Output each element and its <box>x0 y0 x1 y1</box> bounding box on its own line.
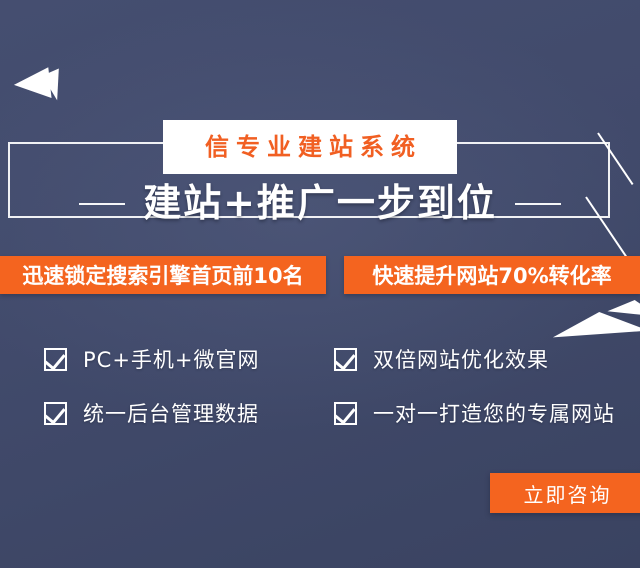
highlight-bar-ranking: 迅速锁定搜索引擎首页前10名 <box>0 256 326 294</box>
highlight-bar-conversion: 快速提升网站70%转化率 <box>344 256 640 294</box>
checkbox-checked-icon <box>44 348 67 371</box>
feature-label: 双倍网站优化效果 <box>373 344 549 374</box>
paper-plane-wing-icon <box>41 68 59 101</box>
feature-label: 一对一打造您的专属网站 <box>373 398 615 428</box>
feature-label: 统一后台管理数据 <box>83 398 259 428</box>
badge-label: 信专业建站系统 <box>198 135 422 159</box>
consult-now-button[interactable]: 立即咨询 <box>490 473 640 513</box>
feature-list: PC+手机+微官网 双倍网站优化效果 统一后台管理数据 一对一打造您的专属网站 <box>44 332 624 440</box>
page-title: 建站+推广一步到位 <box>125 183 515 225</box>
feature-item-multi-platform: PC+手机+微官网 <box>44 344 334 374</box>
badge: 信专业建站系统 <box>163 120 457 174</box>
feature-item-one-on-one: 一对一打造您的专属网站 <box>334 398 624 428</box>
headline-rule-left <box>79 203 125 205</box>
promo-banner: 信专业建站系统 建站+推广一步到位 迅速锁定搜索引擎首页前10名 快速提升网站7… <box>0 0 640 568</box>
feature-label: PC+手机+微官网 <box>83 344 260 374</box>
checkbox-checked-icon <box>44 402 67 425</box>
feature-item-double-seo: 双倍网站优化效果 <box>334 344 624 374</box>
feature-item-unified-backend: 统一后台管理数据 <box>44 398 334 428</box>
headline-row: 建站+推广一步到位 <box>0 183 640 225</box>
checkbox-checked-icon <box>334 402 357 425</box>
headline-rule-right <box>515 203 561 205</box>
checkbox-checked-icon <box>334 348 357 371</box>
highlight-bars: 迅速锁定搜索引擎首页前10名 快速提升网站70%转化率 <box>0 256 640 294</box>
